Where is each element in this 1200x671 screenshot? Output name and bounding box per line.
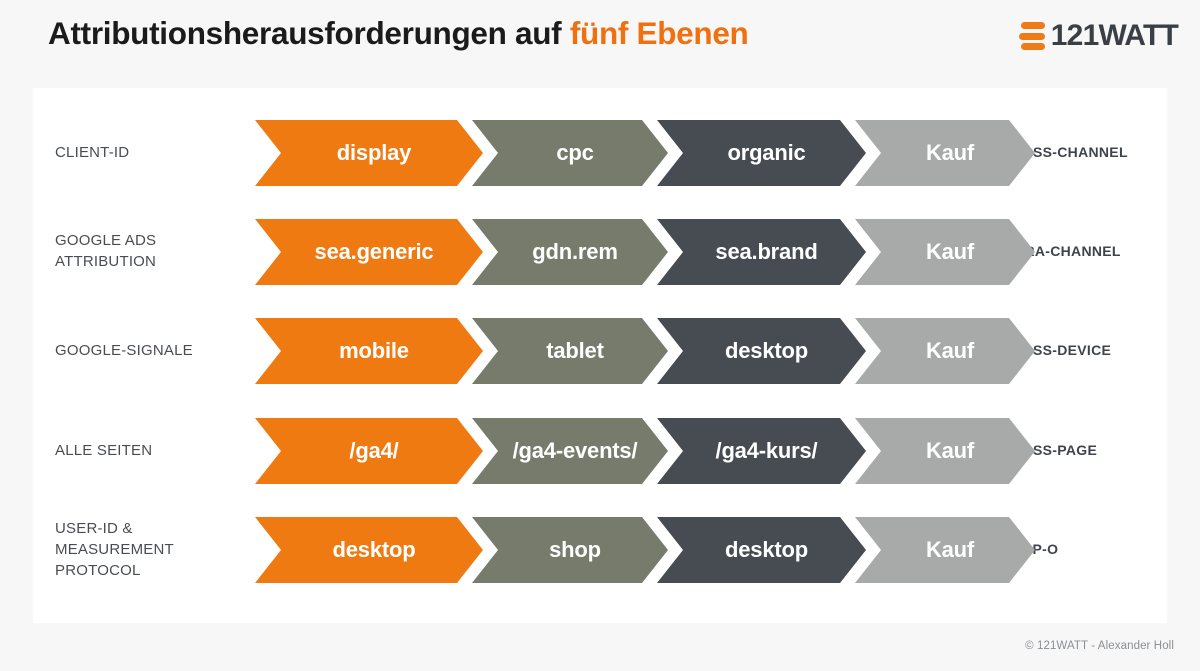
diagram-card: CLIENT-ID display cpc organic Kauf CROSS… (33, 88, 1167, 623)
row-label: USER-ID & MEASUREMENT PROTOCOL (55, 509, 230, 589)
attribution-row: GOOGLE-SIGNALE mobile tablet desktop Kau… (33, 310, 1167, 390)
chevron-step[interactable]: gdn.rem (472, 219, 668, 285)
chevron-step[interactable]: cpc (472, 120, 668, 186)
chevron-flow: mobile tablet desktop Kauf (222, 318, 982, 384)
chevron-label: /ga4-kurs/ (716, 438, 818, 464)
chevron-step[interactable]: /ga4-events/ (472, 418, 668, 484)
chevron-label: /ga4-events/ (513, 438, 638, 464)
chevron-step[interactable]: mobile (255, 318, 483, 384)
chevron-label: Kauf (926, 140, 974, 166)
chevron-step[interactable]: Kauf (855, 219, 1035, 285)
chevron-step[interactable]: Kauf (855, 418, 1035, 484)
chevron-step[interactable]: /ga4/ (255, 418, 483, 484)
footer-copyright: © 121WATT - Alexander Holl (1025, 640, 1174, 652)
chevron-step[interactable]: /ga4-kurs/ (657, 418, 866, 484)
chevron-label: desktop (725, 338, 808, 364)
chevron-step[interactable]: desktop (657, 517, 866, 583)
row-label-line: GOOGLE ADS (55, 230, 230, 251)
chevron-flow: display cpc organic Kauf (222, 120, 982, 186)
row-label: ALLE SEITEN (55, 410, 230, 490)
row-label-line: USER-ID & (55, 518, 230, 539)
slide-header: Attributionsherausforderungen auf fünf E… (0, 0, 1200, 88)
chevron-label: mobile (339, 338, 409, 364)
chevron-step[interactable]: display (255, 120, 483, 186)
chevron-flow: desktop shop desktop Kauf (222, 517, 982, 583)
chevron-step[interactable]: tablet (472, 318, 668, 384)
chevron-label: tablet (546, 338, 603, 364)
row-label: GOOGLE ADS ATTRIBUTION (55, 211, 230, 291)
chevron-label: gdn.rem (532, 239, 617, 265)
chevron-step[interactable]: Kauf (855, 120, 1035, 186)
attribution-row: ALLE SEITEN /ga4/ /ga4-events/ /ga4-kurs… (33, 410, 1167, 490)
chevron-label: Kauf (926, 537, 974, 563)
logo-wordmark: 121WATT (1051, 21, 1178, 51)
chevron-label: cpc (556, 140, 593, 166)
chevron-step[interactable]: sea.brand (657, 219, 866, 285)
chevron-label: Kauf (926, 438, 974, 464)
brand-logo: 121WATT (1015, 15, 1178, 57)
row-label-line: MEASUREMENT (55, 539, 230, 560)
slide-root: Attributionsherausforderungen auf fünf E… (0, 0, 1200, 671)
chevron-step[interactable]: Kauf (855, 517, 1035, 583)
chevron-step[interactable]: desktop (657, 318, 866, 384)
page-title-accent: fünf Ebenen (570, 15, 749, 51)
page-title-main: Attributionsherausforderungen auf (48, 15, 570, 51)
chevron-label: organic (727, 140, 805, 166)
row-label-line: ATTRIBUTION (55, 251, 230, 272)
chevron-label: desktop (333, 537, 416, 563)
chevron-label: Kauf (926, 239, 974, 265)
row-label-line: PROTOCOL (55, 560, 230, 581)
chevron-step[interactable]: Kauf (855, 318, 1035, 384)
chevron-label: Kauf (926, 338, 974, 364)
row-label: CLIENT-ID (55, 112, 230, 192)
row-label: GOOGLE-SIGNALE (55, 310, 230, 390)
attribution-row: CLIENT-ID display cpc organic Kauf CROSS… (33, 112, 1167, 192)
chevron-label: sea.generic (315, 239, 434, 265)
page-title: Attributionsherausforderungen auf fünf E… (48, 15, 749, 52)
chevron-step[interactable]: desktop (255, 517, 483, 583)
chevron-label: desktop (725, 537, 808, 563)
attribution-row: USER-ID & MEASUREMENT PROTOCOL desktop s… (33, 509, 1167, 589)
chevron-step[interactable]: organic (657, 120, 866, 186)
chevron-label: shop (549, 537, 601, 563)
chevron-label: display (337, 140, 411, 166)
attribution-row: GOOGLE ADS ATTRIBUTION sea.generic gdn.r… (33, 211, 1167, 291)
logo-bars-icon (1015, 20, 1045, 52)
chevron-step[interactable]: sea.generic (255, 219, 483, 285)
chevron-flow: sea.generic gdn.rem sea.brand Kauf (222, 219, 982, 285)
chevron-flow: /ga4/ /ga4-events/ /ga4-kurs/ Kauf (222, 418, 982, 484)
chevron-step[interactable]: shop (472, 517, 668, 583)
chevron-label: sea.brand (715, 239, 817, 265)
chevron-label: /ga4/ (349, 438, 398, 464)
